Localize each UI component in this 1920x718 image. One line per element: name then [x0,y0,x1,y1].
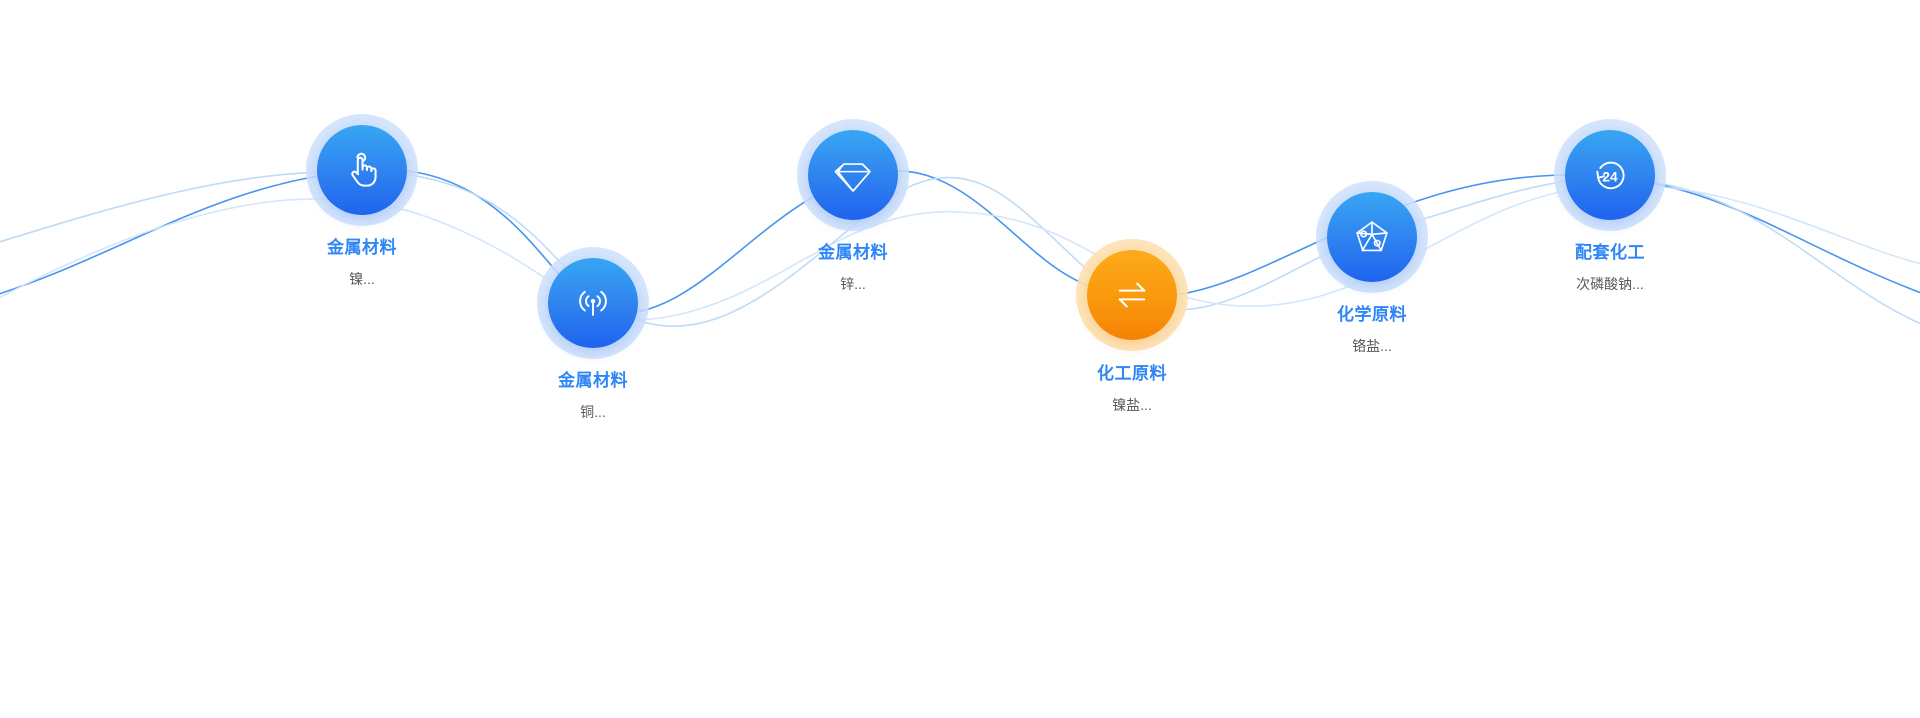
node-1-button[interactable] [306,114,418,226]
node-3-labels: 金属材料锌... [818,242,888,294]
node-1-title[interactable]: 金属材料 [327,237,397,259]
background-curves [0,0,1920,718]
node-2-subtitle: 铜... [558,402,628,422]
node-disc[interactable] [548,258,638,348]
signal-wave-icon [571,281,615,325]
node-4-labels: 化工原料镍盐... [1097,363,1167,415]
node-1-labels: 金属材料镍... [327,237,397,289]
node-2-button[interactable] [537,247,649,359]
node-1-subtitle: 镍... [327,269,397,289]
twenty-four-hour-icon: 24 [1588,153,1632,197]
node-4-button[interactable] [1076,239,1188,351]
node-4-title[interactable]: 化工原料 [1097,363,1167,385]
node-3-button[interactable] [797,119,909,231]
node-3-title[interactable]: 金属材料 [818,242,888,264]
node-disc[interactable] [808,130,898,220]
node-2-title[interactable]: 金属材料 [558,370,628,392]
molecule-pentagon-icon [1351,216,1393,258]
node-5-button[interactable] [1316,181,1428,293]
node-6-subtitle: 次磷酸钠... [1575,274,1645,294]
node-5-title[interactable]: 化学原料 [1337,304,1407,326]
node-2-labels: 金属材料铜... [558,370,628,422]
node-disc[interactable] [1327,192,1417,282]
supply-chain-node-map: 金属材料镍...金属材料铜...金属材料锌...化工原料镍盐...化学原料铬盐.… [0,0,1920,718]
node-6-title[interactable]: 配套化工 [1575,242,1645,264]
exchange-arrows-icon [1111,274,1153,316]
hand-pointer-icon [340,148,384,192]
node-5-labels: 化学原料铬盐... [1337,304,1407,356]
node-disc[interactable] [317,125,407,215]
node-3-subtitle: 锌... [818,274,888,294]
node-6-labels: 配套化工次磷酸钠... [1575,242,1645,294]
node-disc[interactable]: 24 [1565,130,1655,220]
node-6-button[interactable]: 24 [1554,119,1666,231]
node-5-subtitle: 铬盐... [1337,336,1407,356]
node-disc[interactable] [1087,250,1177,340]
svg-text:24: 24 [1602,169,1618,184]
node-4-subtitle: 镍盐... [1097,395,1167,415]
diamond-icon [831,153,875,197]
